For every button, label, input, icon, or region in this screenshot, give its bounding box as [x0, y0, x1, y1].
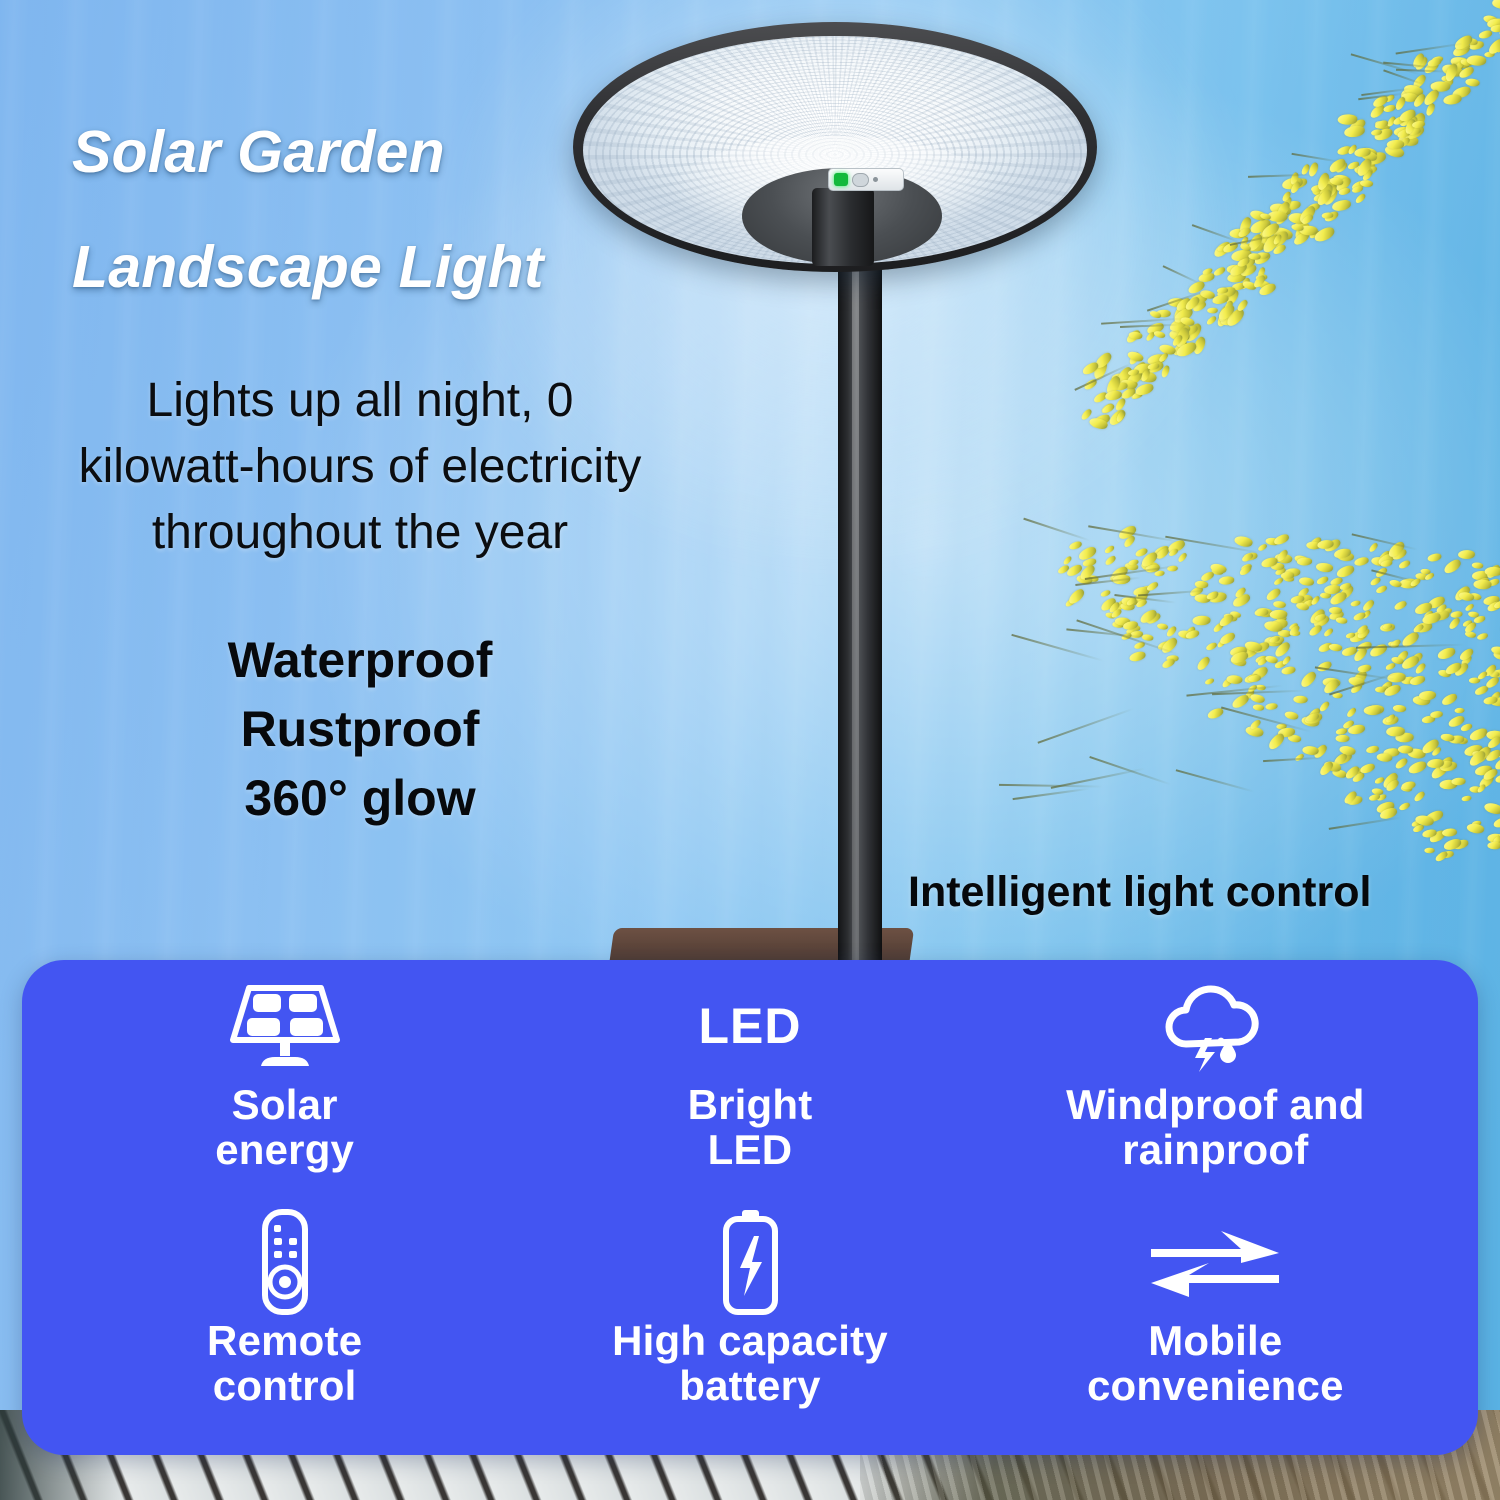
- feature-item-bright-led: LED Bright LED: [517, 974, 982, 1210]
- feature-label-bright-led: Bright LED: [688, 1082, 813, 1173]
- feature-item-remote-control: Remote control: [52, 1210, 517, 1446]
- product-title-line1: Solar Garden: [72, 95, 692, 210]
- led-icon-text: LED: [698, 1001, 801, 1051]
- product-title: Solar Garden Landscape Light: [72, 95, 692, 325]
- subtitle-line3: throughout the year: [30, 500, 690, 566]
- power-button-icon: [852, 173, 869, 187]
- feature-item-mobile-convenience: Mobile convenience: [983, 1210, 1448, 1446]
- product-feature-list: Waterproof Rustproof 360° glow: [160, 626, 560, 833]
- feature-360-glow: 360° glow: [160, 764, 560, 833]
- feature-waterproof: Waterproof: [160, 626, 560, 695]
- feature-grid: Solar energy LED Bright LED: [22, 960, 1478, 1455]
- cloud-storm-icon: [1155, 974, 1275, 1078]
- sensor-dot-icon: [873, 177, 878, 182]
- product-title-line2: Landscape Light: [72, 210, 692, 325]
- solar-panel-icon: [227, 974, 343, 1078]
- lamp-pole-collar: [812, 188, 874, 266]
- product-subtitle: Lights up all night, 0 kilowatt-hours of…: [30, 368, 690, 565]
- feature-item-windproof-rainproof: Windproof and rainproof: [983, 974, 1448, 1210]
- subtitle-line2: kilowatt-hours of electricity: [30, 434, 690, 500]
- intelligent-light-control-label: Intelligent light control: [908, 868, 1488, 917]
- feature-label-windproof-rainproof: Windproof and rainproof: [1066, 1082, 1365, 1173]
- battery-charge-icon: [713, 1210, 787, 1314]
- feature-label-mobile-convenience: Mobile convenience: [1087, 1318, 1344, 1409]
- status-led-indicator: [834, 173, 848, 186]
- transfer-arrows-icon: [1145, 1210, 1285, 1314]
- feature-rustproof: Rustproof: [160, 695, 560, 764]
- feature-item-solar-energy: Solar energy: [52, 974, 517, 1210]
- subtitle-line1: Lights up all night, 0: [30, 368, 690, 434]
- feature-label-remote-control: Remote control: [207, 1318, 362, 1409]
- feature-label-high-capacity-battery: High capacity battery: [612, 1318, 888, 1409]
- remote-control-icon: [249, 1210, 321, 1314]
- feature-item-high-capacity-battery: High capacity battery: [517, 1210, 982, 1446]
- lamp-control-module: [828, 168, 904, 191]
- feature-label-solar-energy: Solar energy: [215, 1082, 354, 1173]
- led-text-icon: LED: [698, 974, 801, 1078]
- feature-panel: Solar energy LED Bright LED: [22, 960, 1478, 1455]
